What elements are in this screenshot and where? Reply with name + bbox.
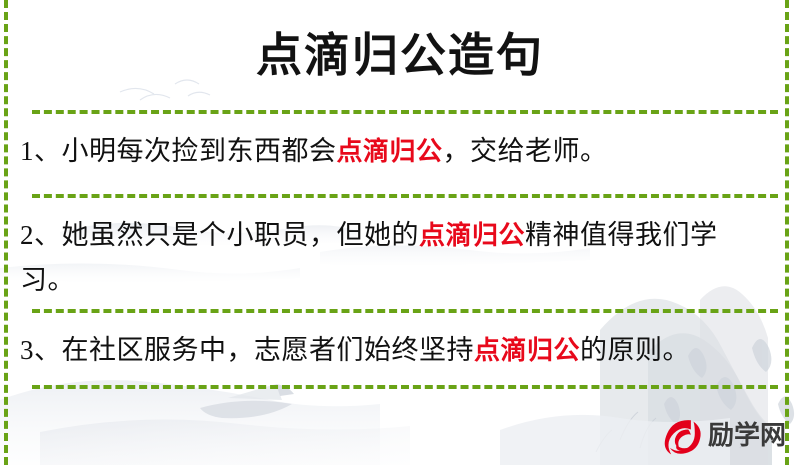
divider-above-sentence-3 <box>32 309 778 313</box>
sentence-3-text-before: 在社区服务中，志愿者们始终坚持 <box>62 335 475 365</box>
site-logo[interactable]: 励学网 <box>662 412 786 460</box>
sentence-3-idiom: 点滴归公 <box>474 336 580 366</box>
sentence-2-text-before: 她虽然只是个小职员，但她的 <box>62 220 420 250</box>
divider-below-sentence-3 <box>32 385 778 389</box>
divider-above-sentence-2 <box>32 194 778 198</box>
sentence-1-text-before: 小明每次捡到东西都会 <box>62 136 337 166</box>
sentence-2-idiom: 点滴归公 <box>419 221 525 251</box>
logo-text: 励学网 <box>708 421 786 451</box>
right-dashed-border <box>785 0 789 465</box>
sentence-1-idiom: 点滴归公 <box>337 137 443 167</box>
sentence-3-text-after: 的原则。 <box>580 335 690 365</box>
sentence-item-1: 1、小明每次捡到东西都会点滴归公，交给老师。 <box>20 129 770 174</box>
left-dashed-border <box>4 0 8 465</box>
sentence-item-2: 2、她虽然只是个小职员，但她的点滴归公精神值得我们学习。 <box>20 213 770 302</box>
sentence-item-3: 3、在社区服务中，志愿者们始终坚持点滴归公的原则。 <box>20 328 770 373</box>
divider-above-sentence-1 <box>32 110 778 114</box>
sentence-3-number: 3、 <box>20 335 62 365</box>
sentence-1-number: 1、 <box>20 136 62 166</box>
sentence-worksheet-page: 点滴归公造句 1、小明每次捡到东西都会点滴归公，交给老师。 2、她虽然只是个小职… <box>0 0 800 465</box>
sentence-1-text-after: ，交给老师。 <box>443 136 608 166</box>
red-swirl-icon <box>662 415 704 457</box>
page-title: 点滴归公造句 <box>0 24 800 86</box>
sentence-2-number: 2、 <box>20 220 62 250</box>
